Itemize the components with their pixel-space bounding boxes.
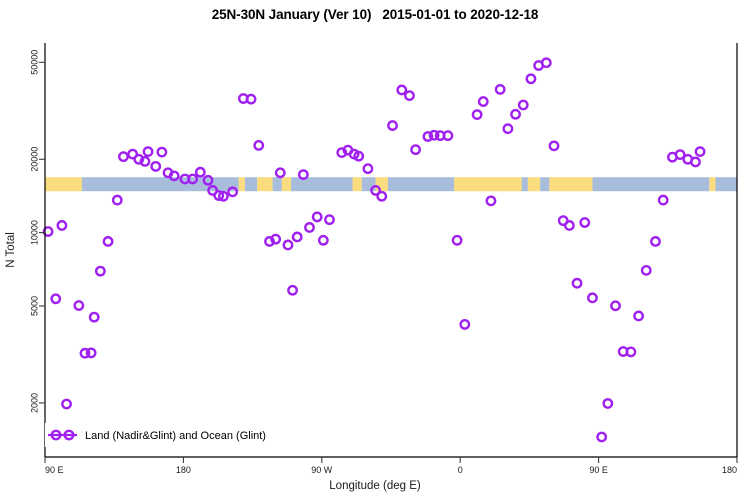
x-tick-label: 0 [458,465,463,475]
band-segment-land [549,177,592,191]
scatter-plot-figure: 25N-30N January (Ver 10) 2015-01-01 to 2… [0,0,750,500]
band-segment-land [353,177,362,191]
x-tick-label: 180 [176,465,191,475]
y-tick-label: 20000 [29,147,39,172]
y-axis-label: N Total [5,232,17,268]
y-tick-label: 5000 [29,296,39,316]
band-segment-land [709,177,715,191]
y-tick-label: 2000 [29,393,39,413]
band-segment-ocean [362,177,376,191]
x-tick-label: 180 [722,465,737,475]
band-segment-land [257,177,272,191]
band-segment-ocean [273,177,282,191]
band-segment-ocean [592,177,709,191]
y-tick-label: 10000 [29,220,39,245]
band-segment-ocean [522,177,528,191]
y-axis-ticks: 20005000100002000050000 [29,50,45,413]
band-segment-ocean [291,177,353,191]
band-segment-land [376,177,388,191]
x-tick-label: 90 W [311,465,333,475]
x-tick-label: 90 E [589,465,608,475]
x-tick-label: 90 E [45,465,64,475]
x-axis-ticks: 90 E18090 W090 E180 [45,457,737,475]
band-segment-ocean [245,177,257,191]
band-segment-land [239,177,245,191]
band-segment-land [45,177,82,191]
legend-entry-label: Land (Nadir&Glint) and Ocean (Glint) [85,430,266,442]
band-segment-ocean [540,177,549,191]
x-axis-label: Longitude (deg E) [329,480,421,492]
y-tick-label: 50000 [29,50,39,75]
plot-background [45,43,737,457]
band-segment-land [528,177,540,191]
band-segment-ocean [82,177,239,191]
chart-legend: Land (Nadir&Glint) and Ocean (Glint) [45,423,294,447]
band-segment-land [454,177,522,191]
band-segment-ocean [715,177,737,191]
band-segment-land [282,177,291,191]
land-ocean-band [45,177,737,191]
band-segment-ocean [388,177,454,191]
plot-canvas: 20005000100002000050000 90 E18090 W090 E… [0,0,750,500]
